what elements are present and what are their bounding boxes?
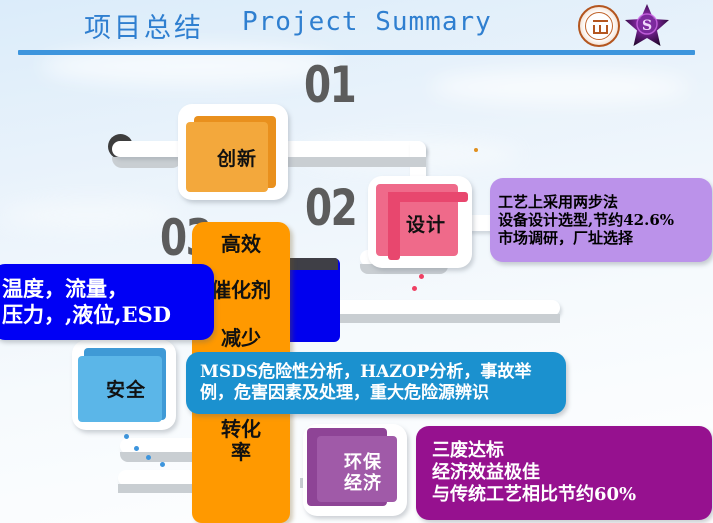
header-rule <box>18 50 695 55</box>
svg-text:S: S <box>642 18 652 34</box>
connector-track <box>276 141 426 157</box>
decorative-dot <box>134 446 139 451</box>
slide-header: 项目总结 Project Summary S <box>0 0 713 58</box>
tile-design-label: 设计 <box>374 180 478 272</box>
panel-safety-detail-text: MSDS危险性分析，HAZOP分析，事故举 例，危害因素及处理，重大危险源辨识 <box>200 362 531 403</box>
decorative-dot <box>419 274 424 279</box>
column-line-4: 转化 率 <box>192 418 290 464</box>
cloud-wisp <box>0 200 180 230</box>
step-number-02: 02 <box>305 183 356 233</box>
tile-safety[interactable]: 安全 <box>72 340 176 430</box>
step-number-01: 01 <box>304 60 355 110</box>
tile-eco[interactable]: 环保 经济 <box>303 424 407 516</box>
tile-innovation-label: 创新 <box>182 112 292 208</box>
connector-shadow <box>276 157 426 167</box>
page-title-cn: 项目总结 <box>84 6 204 45</box>
cloud-wisp <box>430 70 690 104</box>
panel-eco-detail-text: 三废达标 经济效益极佳 与传统工艺相比节约60% <box>432 440 636 506</box>
panel-control-params-text: 温度，流量， 压力，,液位,ESD <box>2 276 171 327</box>
university-seal-icon <box>578 5 620 47</box>
page-title-en: Project Summary <box>242 7 492 37</box>
tile-design[interactable]: 设计 <box>368 176 472 268</box>
tile-safety-label: 安全 <box>74 346 178 436</box>
decorative-dot <box>146 455 151 460</box>
decorative-dot <box>412 286 417 291</box>
decorative-dot <box>474 148 478 152</box>
decorative-dot <box>160 462 165 467</box>
panel-design-detail[interactable]: 工艺上采用两步法 设备设计选型,节约42.6% 市场调研，厂址选择 <box>490 178 712 262</box>
panel-eco-detail[interactable]: 三废达标 经济效益极佳 与传统工艺相比节约60% <box>416 426 712 520</box>
connector-shadow <box>112 157 182 168</box>
tile-innovation[interactable]: 创新 <box>178 104 288 200</box>
panel-design-detail-text: 工艺上采用两步法 设备设计选型,节约42.6% 市场调研，厂址选择 <box>498 193 674 248</box>
column-line-1: 高效 <box>192 228 290 257</box>
panel-control-params[interactable]: 温度，流量， 压力，,液位,ESD <box>0 264 214 340</box>
tile-eco-label: 环保 经济 <box>311 428 415 520</box>
purple-star-icon: S <box>624 3 670 48</box>
panel-safety-detail[interactable]: MSDS危险性分析，HAZOP分析，事故举 例，危害因素及处理，重大危险源辨识 <box>186 352 566 414</box>
slide-canvas: 项目总结 Project Summary S <box>0 0 713 523</box>
